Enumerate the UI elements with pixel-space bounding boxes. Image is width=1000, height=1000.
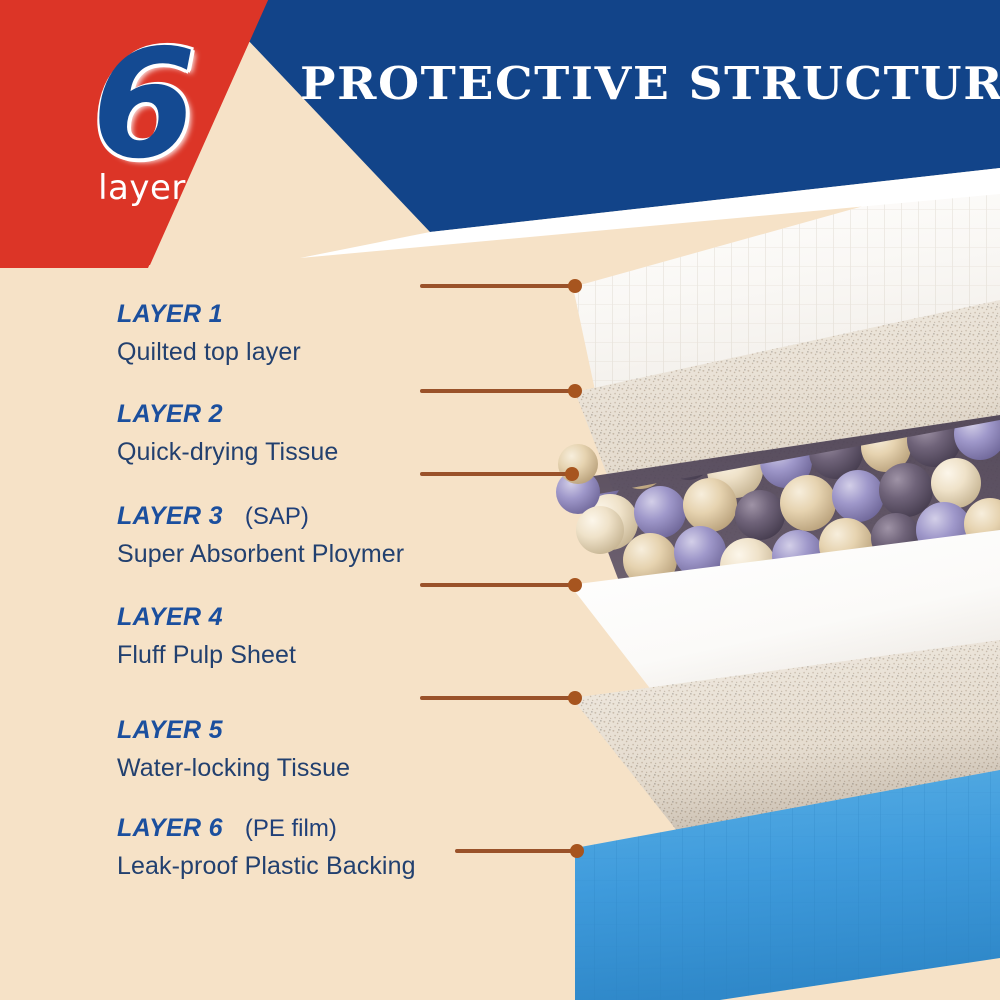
layer-3-heading-text: LAYER 3 [117,502,223,530]
sap-bead [576,506,624,554]
layer-label-6: LAYER 6(PE film) Leak-proof Plastic Back… [117,814,416,881]
sap-bead [558,444,598,484]
layer-4-heading-text: LAYER 4 [117,603,223,631]
connector-dot-3 [565,467,579,481]
layer-label-2: LAYER 2 Quick-drying Tissue [117,400,338,467]
connector-dot-2 [568,384,582,398]
header-banner: 6 layer PROTECTIVE STRUCTURE [0,0,1000,300]
layer-3-note: (SAP) [245,503,309,530]
connector-line-4 [420,583,575,587]
layer-label-3: LAYER 3(SAP) Super Absorbent Ploymer [117,502,404,569]
connector-line-1 [420,284,575,288]
layer-2-heading: LAYER 2 [117,400,338,429]
layer-6-heading-text: LAYER 6 [117,814,223,842]
layer-1-heading: LAYER 1 [117,300,301,329]
badge-number: 6 [78,30,208,180]
layer-6-heading: LAYER 6(PE film) [117,814,416,843]
layer-2-heading-text: LAYER 2 [117,400,223,428]
connector-line-2 [420,389,575,393]
layer-4-heading: LAYER 4 [117,603,296,632]
layer-5-description: Water-locking Tissue [117,754,350,783]
connector-line-5 [420,696,575,700]
connector-dot-1 [568,279,582,293]
connector-dot-4 [568,578,582,592]
layer-1-description: Quilted top layer [117,338,301,367]
connector-dot-6 [570,844,584,858]
layer-3-description: Super Absorbent Ploymer [117,540,404,569]
layer-5-heading: LAYER 5 [117,716,350,745]
layer-label-4: LAYER 4 Fluff Pulp Sheet [117,603,296,670]
layer-1-heading-text: LAYER 1 [117,300,223,328]
layer-label-5: LAYER 5 Water-locking Tissue [117,716,350,783]
layer-3-heading: LAYER 3(SAP) [117,502,404,531]
infographic-page: 6 layer PROTECTIVE STRUCTURE LAYER 1 Qui… [0,0,1000,1000]
layer-2-description: Quick-drying Tissue [117,438,338,467]
layer-6-description: Leak-proof Plastic Backing [117,852,416,881]
badge-word: layer [62,168,222,208]
connector-line-6 [455,849,577,853]
layer-4-description: Fluff Pulp Sheet [117,641,296,670]
connector-line-3 [420,472,572,476]
connector-dot-5 [568,691,582,705]
layer-5-heading-text: LAYER 5 [117,716,223,744]
page-title: PROTECTIVE STRUCTURE [300,57,993,110]
layer-6-note: (PE film) [245,815,337,842]
layer-label-1: LAYER 1 Quilted top layer [117,300,301,367]
